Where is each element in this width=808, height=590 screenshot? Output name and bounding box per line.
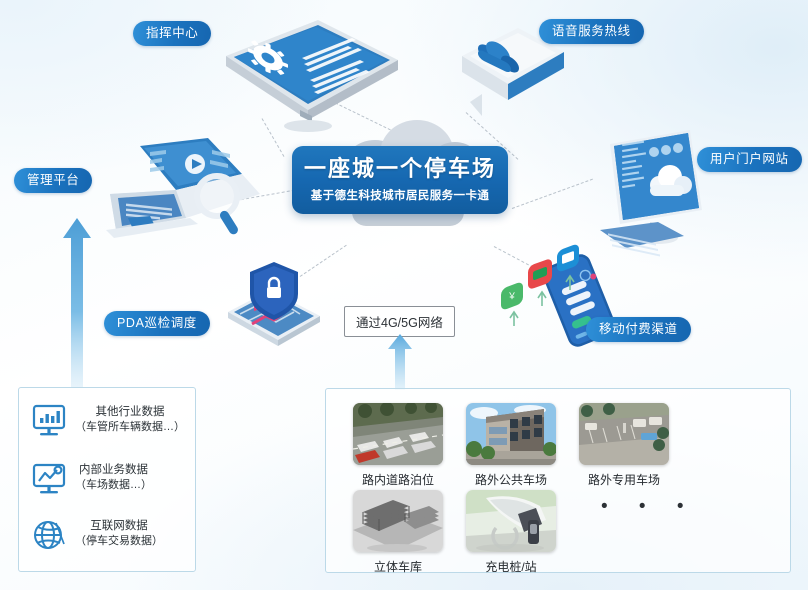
label-user-portal[interactable]: 用户门户网站 [697,147,802,172]
scenario-card-0[interactable]: 路内道路泊位 [353,403,443,488]
globe-network-icon [29,514,69,554]
scenario-card-2[interactable]: 路外专用车场 [579,403,669,488]
dedicated-parking-lot-photo [579,403,669,465]
monitor-bar-chart-icon [29,400,69,440]
data-source-row-0: 其他行业数据 （车管所车辆数据…） [29,400,187,440]
label-management-platform[interactable]: 管理平台 [14,168,92,193]
data-sources-panel: 其他行业数据 （车管所车辆数据…） 内部业务数据 （车场数据…） [18,387,196,572]
connector-portal [512,179,593,209]
scenario-label-0: 路内道路泊位 [353,471,443,488]
main-banner: 一座城一个停车场 基于德生科技城市居民服务一卡通 [292,146,508,214]
network-up-arrow-icon [386,334,414,390]
data-source-text-1: 内部业务数据 （车场数据…） [75,462,152,495]
label-pda-dispatch[interactable]: PDA巡检调度 [104,311,210,336]
scenario-card-3[interactable]: 立体车库 [353,490,443,575]
data-source-text-2: 互联网数据 （停车交易数据） [75,518,163,551]
label-mobile-payment[interactable]: 移动付费渠道 [586,317,691,342]
scenario-card-1[interactable]: 路外公共车场 [466,403,556,488]
network-label-box: 通过4G/5G网络 [344,306,455,337]
multi-level-garage-photo [353,490,443,552]
command-center-monitor-illustration [212,14,402,144]
scenario-label-3: 立体车库 [353,558,443,575]
parking-scenarios-panel: 路内道路泊位 [325,388,791,573]
banner-subtitle: 基于德生科技城市居民服务一卡通 [311,187,490,203]
label-voice-hotline[interactable]: 语音服务热线 [539,19,644,44]
label-command-center[interactable]: 指挥中心 [133,21,211,46]
scenario-card-4[interactable]: 充电桩/站 [466,490,556,575]
infographic-canvas: ￥ 指挥中心 语音服务热线 管理平台 PDA巡检调度 用户门户网站 移动付 [0,0,808,590]
svg-text:￥: ￥ [507,292,516,302]
scenario-label-2: 路外专用车场 [579,471,669,488]
scenario-label-4: 充电桩/站 [466,558,556,575]
scenario-label-1: 路外公共车场 [466,471,556,488]
management-platform-laptop-illustration [92,138,262,258]
data-source-row-1: 内部业务数据 （车场数据…） [29,458,187,498]
data-flow-up-arrow-icon [62,218,92,388]
banner-title: 一座城一个停车场 [304,157,496,181]
data-source-text-0: 其他行业数据 （车管所车辆数据…） [75,404,185,437]
public-parking-building-photo [466,403,556,465]
data-source-row-2: 互联网数据 （停车交易数据） [29,514,187,554]
scenarios-more-dots: • • • [601,496,697,518]
monitor-line-chart-icon [29,458,69,498]
ev-charging-station-photo [466,490,556,552]
street-parking-photo [353,403,443,465]
pda-dispatch-shield-illustration [216,256,336,346]
